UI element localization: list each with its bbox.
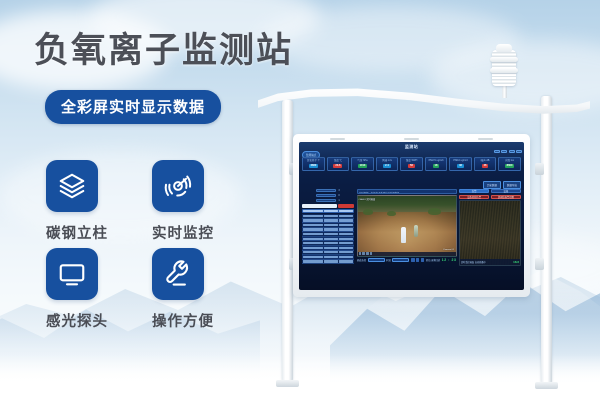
weather-sensor (487, 44, 521, 96)
metric-card[interactable]: 温度 ℃ 23.6 (327, 157, 350, 171)
video-footer-note: 抓拍 录像回放 (426, 258, 440, 262)
dashboard-toolbar[interactable] (494, 150, 523, 153)
metric-card[interactable]: 噪声 dB 46 (474, 157, 497, 171)
post-base-left (276, 380, 299, 387)
alert-offline[interactable]: 设备离线告警 (459, 195, 489, 199)
summary-row: 3 (302, 189, 354, 192)
metric-value: 2860 (309, 164, 319, 169)
video-control-bar[interactable] (358, 252, 456, 256)
metric-value: 32 (457, 164, 464, 169)
video-counter: 12 : 23 (442, 258, 457, 262)
metric-value: 8600 (505, 164, 515, 169)
capture-button[interactable] (416, 258, 419, 261)
support-post-right (541, 96, 552, 384)
summary-row: 1 (302, 199, 354, 202)
sensor-ring (490, 57, 518, 62)
video-shrub (387, 211, 396, 216)
metric-label: 光照 lux (499, 159, 520, 163)
metric-card[interactable]: 气压 hPa 1013 (351, 157, 374, 171)
toolbar-chip[interactable] (509, 150, 515, 153)
stream-label: 码流 (386, 258, 391, 262)
video-subject-person (401, 227, 406, 243)
metric-label: 温度 ℃ (328, 159, 349, 163)
alert-pane: 告警 设备 设备离线告警 超阈值报警提醒 实时监控画面 自动轮播中 18.6 (459, 189, 521, 287)
video-shrub (428, 208, 441, 215)
metric-card[interactable]: 光照 lux 8600 (498, 157, 521, 171)
column-header-time (303, 210, 323, 212)
table-toolbar (302, 204, 354, 208)
metric-label: 气压 hPa (352, 159, 373, 163)
secondary-camera-reading: 18.6 (513, 260, 519, 264)
metric-card[interactable]: 负氧离子 个 2860 (302, 157, 325, 171)
toolbar-chip[interactable] (516, 150, 522, 153)
metric-label: 噪声 dB (475, 159, 496, 163)
canopy-shape (258, 86, 590, 128)
video-header: 实时视频 · 负氧离子监测站前端摄像机 (357, 189, 457, 194)
summary-value: 3 (338, 189, 339, 192)
summary-label (316, 194, 336, 197)
metric-card[interactable]: 风速 m/s 2.4 (376, 157, 399, 171)
sensor-cap (496, 44, 512, 52)
sensor-ring (490, 68, 518, 73)
summary-list: 3 0 1 (302, 189, 354, 202)
column-header-value (324, 210, 338, 212)
record-button[interactable] (411, 258, 414, 261)
toolbar-chip[interactable] (494, 150, 500, 153)
secondary-camera-note: 实时监控画面 自动轮播中 (461, 260, 486, 264)
tab-devices[interactable]: 设备 (491, 189, 521, 193)
metric-label: 负氧离子 个 (303, 159, 324, 163)
metric-value: 46 (482, 164, 489, 169)
alert-tabs: 告警 设备 (459, 189, 521, 193)
export-button[interactable] (338, 204, 354, 208)
alert-buttons: 设备离线告警 超阈值报警提醒 (459, 195, 521, 199)
dashboard-action-bar: 历史数据 数据导出 (302, 182, 521, 188)
video-osd-text: CAM01 实时画面 (359, 197, 376, 201)
metric-value: 2.4 (383, 164, 391, 169)
support-post-left (282, 100, 293, 382)
metric-label: PM2.5 ug/m3 (426, 159, 447, 163)
table-header-row (302, 209, 354, 213)
dashboard-panes: 3 0 1 (302, 189, 521, 287)
metric-value: 1013 (358, 164, 368, 169)
vent-mark (404, 138, 419, 140)
history-button[interactable]: 历史数据 (483, 181, 501, 188)
led-display-frame: 监测站 监测站点 负氧离子 个 2860 温度 ℃ 23.6 气压 (293, 134, 530, 297)
search-input[interactable] (302, 204, 337, 208)
metric-card[interactable]: PM2.5 ug/m3 18 (425, 157, 448, 171)
summary-value: 0 (338, 194, 339, 197)
dashboard-title: 监测站 (299, 144, 524, 150)
toolbar-chip[interactable] (501, 150, 507, 153)
video-shrub (363, 209, 373, 215)
stream-select[interactable] (392, 258, 409, 262)
summary-label (316, 199, 336, 202)
metric-card[interactable]: PM10 ug/m3 32 (449, 157, 472, 171)
tab-alarms[interactable]: 告警 (459, 189, 489, 193)
metric-label: 湿度 %RH (401, 159, 422, 163)
video-footer: 通道选择 码流 抓拍 录像回放 12 : 23 (357, 258, 457, 262)
summary-row: 0 (302, 194, 354, 197)
metric-label: 风速 m/s (377, 159, 398, 163)
video-pane: 实时视频 · 负氧离子监测站前端摄像机 CAM01 实时画面 Camera 01 (357, 189, 457, 287)
video-footer-right: 抓拍 录像回放 12 : 23 (411, 258, 456, 262)
channel-label: 通道选择 (357, 258, 367, 262)
secondary-camera-feed[interactable]: 实时监控画面 自动轮播中 18.6 (459, 200, 521, 266)
monitoring-station: 监测站 监测站点 负氧离子 个 2860 温度 ℃ 23.6 气压 (0, 0, 600, 400)
metric-value: 23.6 (333, 164, 342, 169)
camera-noise-overlay (460, 201, 520, 265)
metric-card[interactable]: 湿度 %RH 56 (400, 157, 423, 171)
metric-label: PM10 ug/m3 (450, 159, 471, 163)
play-icon[interactable] (359, 252, 362, 255)
summary-label (316, 189, 336, 192)
mount-bracket (535, 258, 544, 270)
video-feed[interactable]: CAM01 实时画面 Camera 01 (357, 195, 457, 257)
table-row[interactable] (302, 260, 354, 265)
export-data-button[interactable]: 数据导出 (503, 181, 521, 188)
metric-card-row: 负氧离子 个 2860 温度 ℃ 23.6 气压 hPa 1013 风速 m/s… (302, 157, 521, 171)
metric-value: 56 (408, 164, 415, 169)
summary-value: 1 (338, 199, 339, 202)
pause-icon[interactable] (362, 252, 365, 255)
vent-mark (478, 138, 493, 140)
metric-value: 18 (433, 164, 440, 169)
mount-bracket (535, 163, 544, 175)
fullscreen-icon[interactable] (370, 252, 373, 255)
wave-canopy (258, 86, 590, 128)
secondary-camera-bar: 实时监控画面 自动轮播中 18.6 (460, 259, 520, 265)
settings-button[interactable] (421, 258, 424, 261)
alert-threshold[interactable]: 超阈值报警提醒 (491, 195, 521, 199)
column-header-status (339, 210, 353, 212)
vent-mark (330, 138, 345, 140)
post-base-right (535, 382, 558, 389)
channel-select[interactable] (368, 258, 385, 262)
data-table-pane: 3 0 1 (302, 189, 354, 287)
dashboard-screen[interactable]: 监测站 监测站点 负氧离子 个 2860 温度 ℃ 23.6 气压 (299, 142, 524, 290)
snapshot-icon[interactable] (366, 252, 369, 255)
video-subject-secondary (414, 225, 418, 237)
